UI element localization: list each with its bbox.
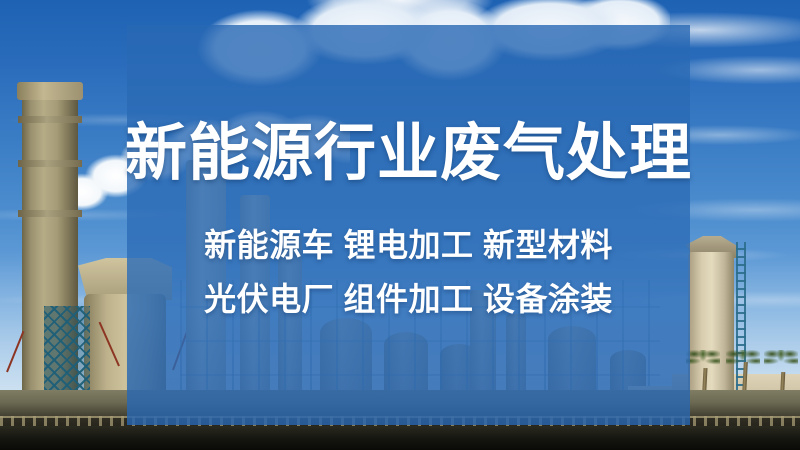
smokestack-band	[18, 160, 82, 167]
banner-subtitle-line-2: 光伏电厂 组件加工 设备涂装	[204, 283, 613, 315]
storage-silo	[688, 252, 734, 402]
banner-title: 新能源行业废气处理	[125, 123, 692, 185]
road	[0, 426, 800, 450]
smokestack-band	[18, 210, 82, 217]
banner-subtitle-line-1: 新能源车 锂电加工 新型材料	[204, 229, 613, 261]
steel-truss	[44, 306, 90, 402]
palm-fronds	[764, 350, 798, 372]
smokestack-band	[18, 116, 82, 123]
banner-text-block: 新能源行业废气处理 新能源车 锂电加工 新型材料 光伏电厂 组件加工 设备涂装	[127, 25, 690, 425]
promo-banner: 新能源行业废气处理 新能源车 锂电加工 新型材料 光伏电厂 组件加工 设备涂装	[0, 0, 800, 450]
